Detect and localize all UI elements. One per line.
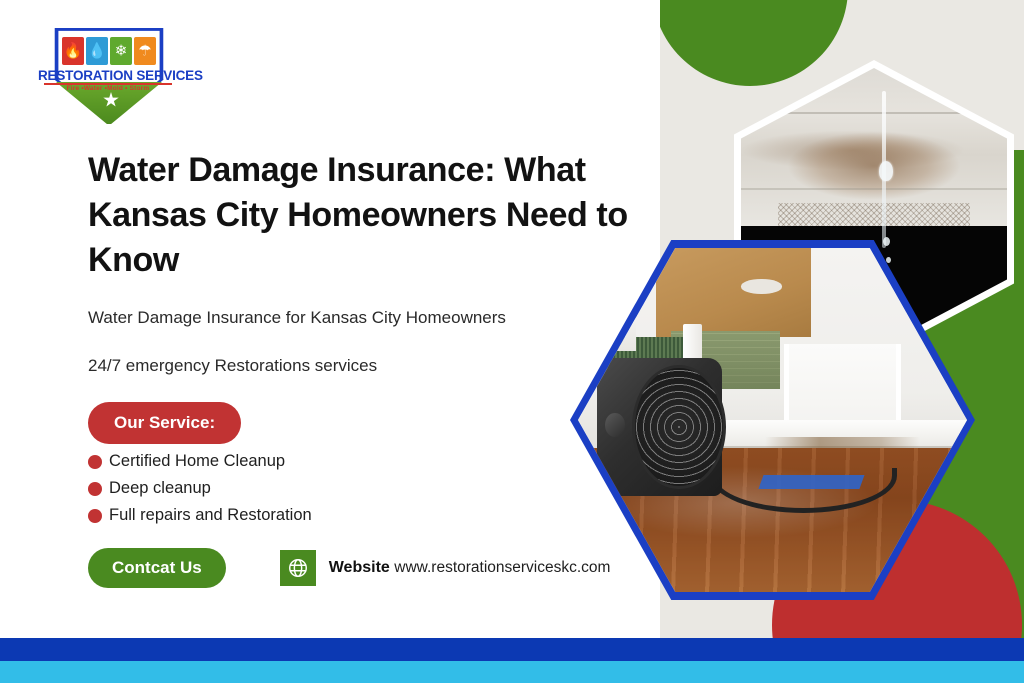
air-mover-grill bbox=[632, 365, 725, 489]
exposed-subfloor bbox=[656, 248, 812, 337]
list-item: Certified Home Cleanup bbox=[88, 452, 508, 471]
footer-bar-cyan bbox=[0, 661, 1024, 683]
list-item-label: Deep cleanup bbox=[109, 479, 211, 498]
website-url[interactable]: www.restorationserviceskc.com bbox=[394, 559, 610, 576]
page-title: Water Damage Insurance: What Kansas City… bbox=[88, 148, 658, 283]
logo-tagline: Fire •Water •Mold • Storm bbox=[38, 85, 178, 92]
website-text: Website www.restorationserviceskc.com bbox=[329, 558, 611, 578]
list-item: Deep cleanup bbox=[88, 479, 508, 498]
globe-icon bbox=[280, 550, 316, 586]
service-badge: Our Service: bbox=[88, 402, 241, 444]
air-mover-knob bbox=[605, 413, 624, 437]
logo-service-tiles: 🔥 💧 ❄ ☂ bbox=[62, 37, 156, 65]
bullet-dot-icon bbox=[88, 455, 102, 469]
storm-icon: ☂ bbox=[134, 37, 156, 65]
mold-icon: ❄ bbox=[110, 37, 132, 65]
water-droplet bbox=[879, 161, 893, 181]
list-item-label: Full repairs and Restoration bbox=[109, 506, 312, 525]
list-item-label: Certified Home Cleanup bbox=[109, 452, 285, 471]
subtitle-secondary: 24/7 emergency Restorations services bbox=[88, 356, 648, 376]
contact-us-button[interactable]: Contcat Us bbox=[88, 548, 226, 588]
bullet-dot-icon bbox=[88, 482, 102, 496]
company-logo[interactable]: 🔥 💧 ❄ ☂ RESTORATION SERVICES Fire •Water… bbox=[38, 26, 178, 126]
service-list: Certified Home Cleanup Deep cleanup Full… bbox=[88, 452, 508, 533]
fire-icon: 🔥 bbox=[62, 37, 84, 65]
cta-row: Contcat Us Website www.restorationservic… bbox=[88, 548, 610, 588]
bullet-dot-icon bbox=[88, 509, 102, 523]
website-label: Website bbox=[329, 559, 390, 576]
logo-company-name: RESTORATION SERVICES bbox=[38, 68, 178, 83]
website-block[interactable]: Website www.restorationserviceskc.com bbox=[280, 550, 611, 586]
water-droplet bbox=[886, 257, 891, 263]
flyer-canvas: 🔥 💧 ❄ ☂ RESTORATION SERVICES Fire •Water… bbox=[0, 0, 1024, 683]
footer-bar-blue bbox=[0, 638, 1024, 661]
subtitle-primary: Water Damage Insurance for Kansas City H… bbox=[88, 308, 648, 328]
water-drop-icon: 💧 bbox=[86, 37, 108, 65]
list-item: Full repairs and Restoration bbox=[88, 506, 508, 525]
